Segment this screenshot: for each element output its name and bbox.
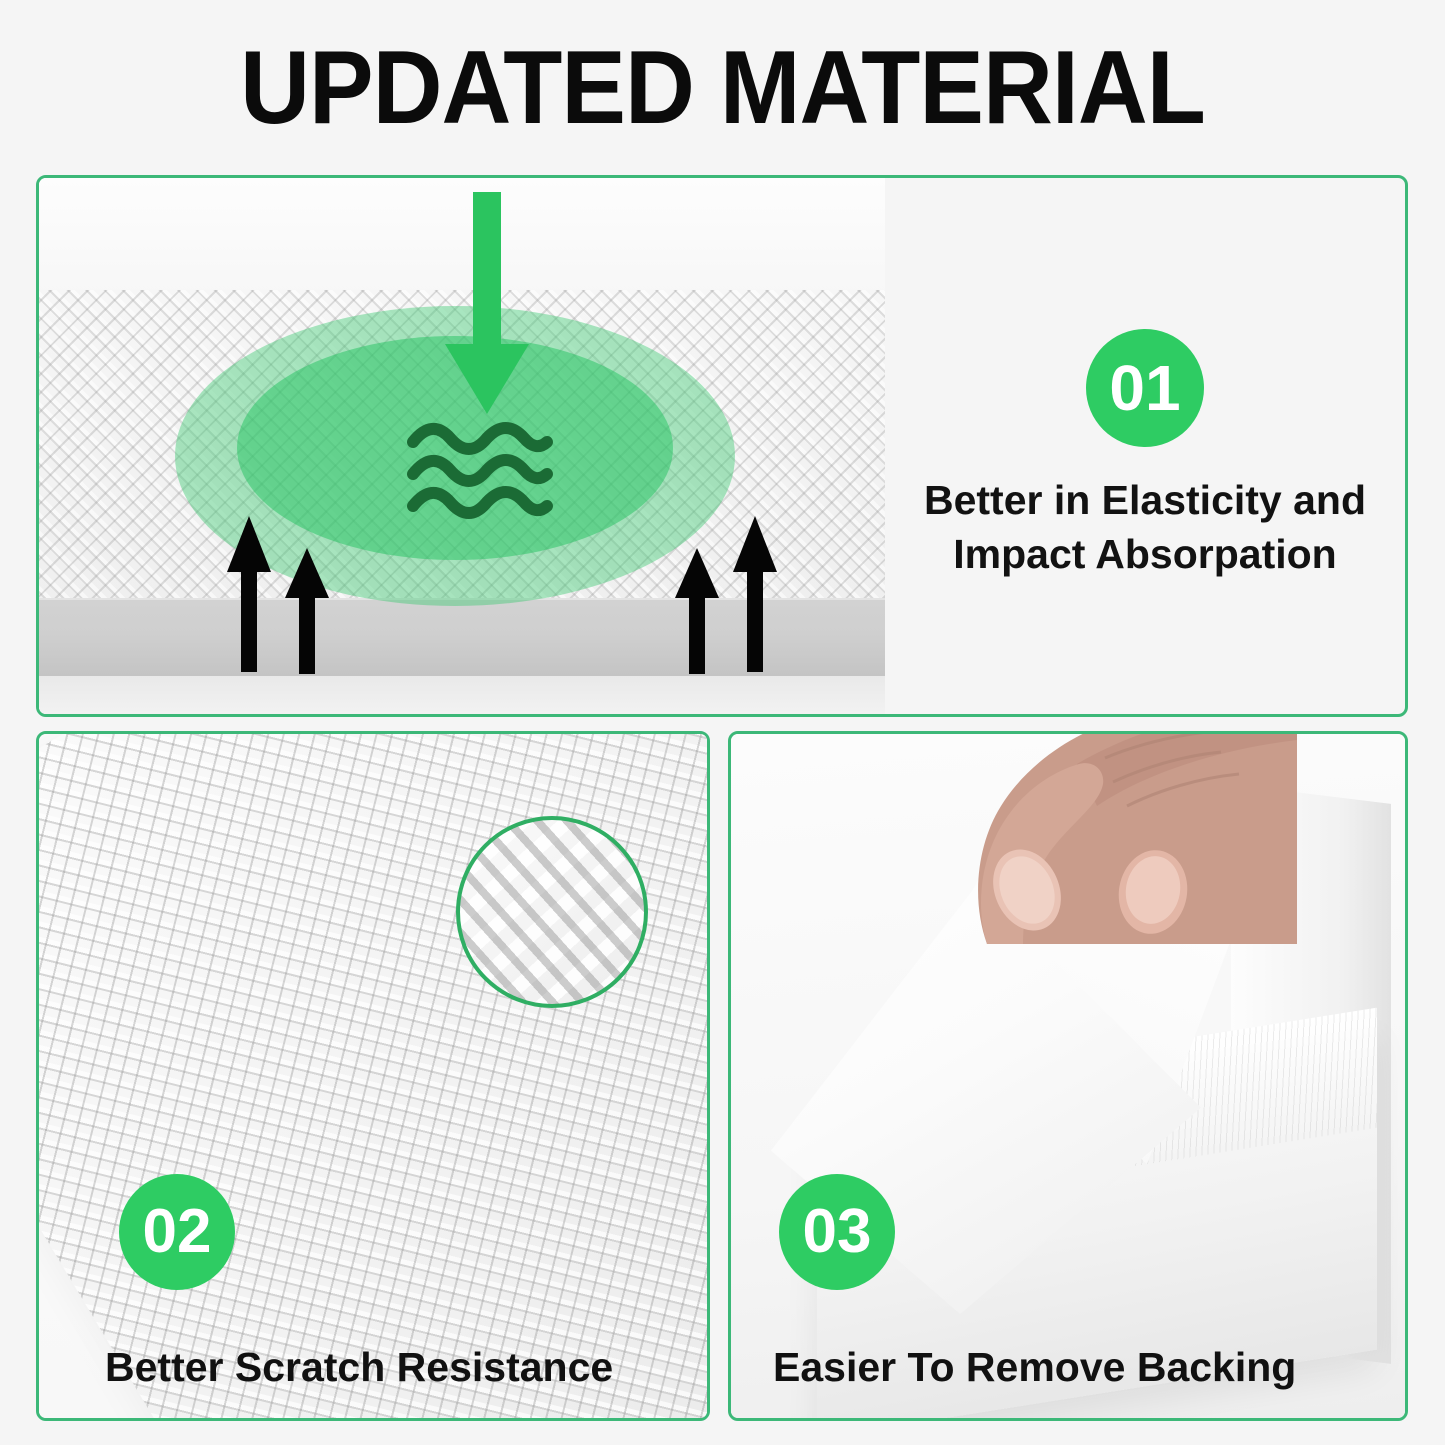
table-surface [39,676,885,714]
scratch-resistance-illustration [39,734,707,1418]
page-title: UPDATED MATERIAL [51,34,1395,142]
feature-01-caption: Better in Elasticity and Impact Absorpat… [924,473,1366,581]
hand-icon [927,731,1297,944]
impact-down-arrow-icon [437,192,537,442]
feature-caption-line-2: Impact Absorpation [924,527,1366,581]
feature-caption-line-1: Better in Elasticity and [924,473,1366,527]
feature-badge-number: 03 [803,1201,872,1263]
feature-badge-number: 01 [1109,356,1180,420]
feature-03-caption: Easier To Remove Backing [773,1342,1296,1392]
rebound-up-arrow-icon [733,516,777,672]
absorption-waves-icon [405,420,555,524]
feature-panel-02: 02 Better Scratch Resistance [36,731,710,1421]
rebound-up-arrow-icon [285,548,329,674]
feature-badge-number: 02 [143,1201,212,1263]
feature-01-text-block: 01 Better in Elasticity and Impact Absor… [885,178,1405,714]
feature-badge-03: 03 [779,1174,895,1290]
feature-badge-02: 02 [119,1174,235,1290]
rebound-up-arrow-icon [675,548,719,674]
feature-panel-03: 03 Easier To Remove Backing [728,731,1408,1421]
feature-02-caption: Better Scratch Resistance [105,1342,613,1392]
remove-backing-illustration [731,734,1405,1418]
texture-magnifier-icon [456,816,648,1008]
feature-panel-01: 01 Better in Elasticity and Impact Absor… [36,175,1408,717]
impact-absorption-illustration [39,178,885,714]
feature-badge-01: 01 [1086,329,1204,447]
rebound-up-arrow-icon [227,516,271,672]
